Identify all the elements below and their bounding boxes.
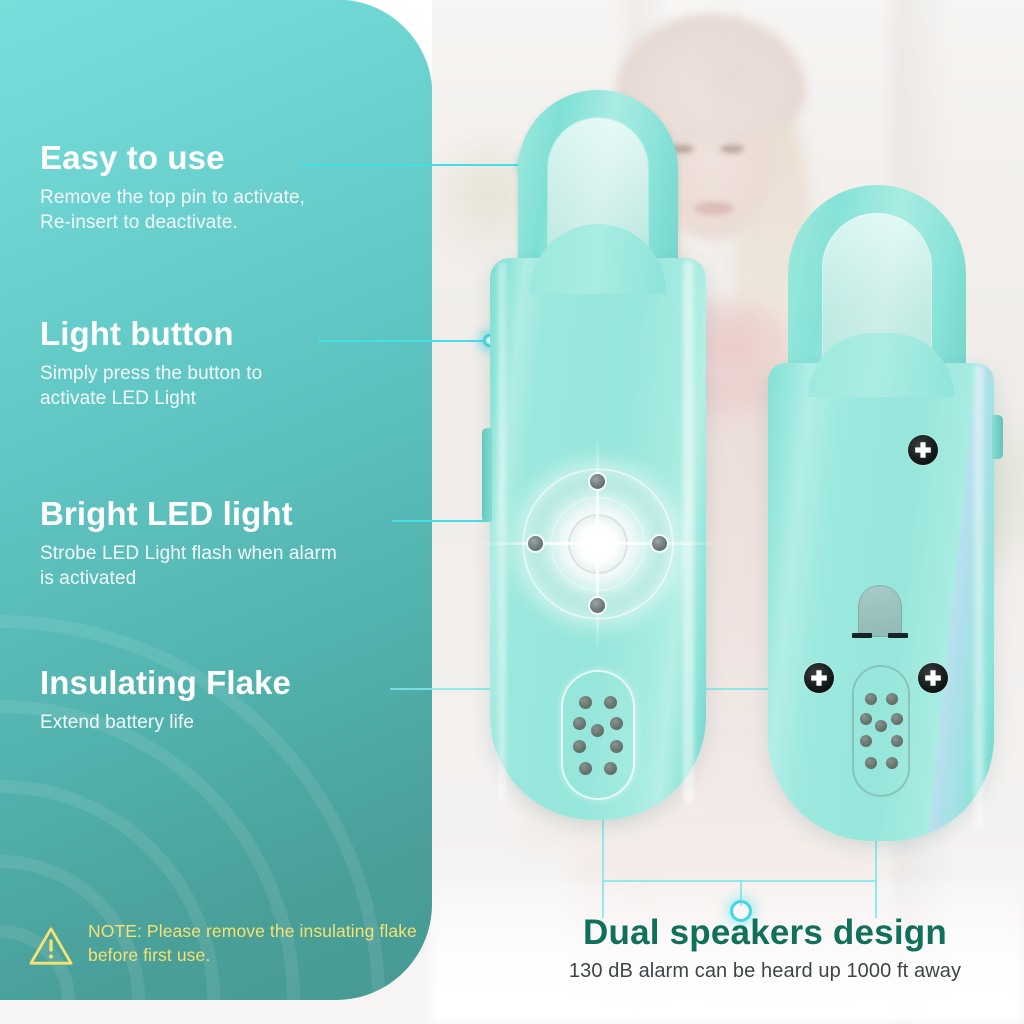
- lens-screw-right: [652, 536, 667, 551]
- feature-title: Light button: [40, 317, 262, 352]
- feature-desc: Remove the top pin to activate, Re-inser…: [40, 185, 305, 235]
- alarm-body-front: [490, 258, 706, 820]
- dual-speakers-caption: Dual speakers design 130 dB alarm can be…: [515, 914, 1015, 983]
- phillips-screw-icon: [809, 668, 829, 688]
- feature-title: Bright LED light: [40, 497, 337, 532]
- alarm-body-back: [768, 363, 994, 841]
- feature-easy-to-use: Easy to use Remove the top pin to activa…: [40, 141, 305, 235]
- body-highlight-left: [498, 262, 506, 802]
- lens-screw-left: [528, 536, 543, 551]
- phillips-screw-icon: [923, 668, 943, 688]
- body-highlight-right: [683, 260, 694, 805]
- personal-alarm-back-view: [760, 185, 1004, 845]
- screw-bottom-left: [804, 663, 834, 693]
- body-highlight-right-back: [974, 365, 984, 829]
- personal-alarm-front-view: [470, 90, 722, 820]
- note-text: NOTE: Please remove the insulating flake…: [88, 920, 428, 967]
- speaker-grille-back: [852, 665, 910, 797]
- feature-desc: Strobe LED Light flash when alarm is act…: [40, 541, 337, 591]
- lens-screw-bottom: [590, 598, 605, 613]
- feature-bright-led-light: Bright LED light Strobe LED Light flash …: [40, 497, 337, 591]
- caption-subtitle: 130 dB alarm can be heard up 1000 ft awa…: [515, 960, 1015, 983]
- screw-top: [908, 435, 938, 465]
- light-button-back[interactable]: [992, 415, 1003, 459]
- led-light-lens[interactable]: [524, 470, 672, 618]
- screw-bottom-right: [918, 663, 948, 693]
- feature-title: Insulating Flake: [40, 666, 291, 701]
- light-button[interactable]: [482, 428, 492, 522]
- feature-desc: Simply press the button to activate LED …: [40, 361, 262, 411]
- insulating-flake-tab[interactable]: [858, 585, 902, 637]
- feature-light-button: Light button Simply press the button to …: [40, 317, 262, 411]
- callout-line-light-button: [318, 340, 492, 342]
- warning-triangle-icon: [28, 925, 74, 967]
- feature-insulating-flake: Insulating Flake Extend battery life: [40, 666, 291, 735]
- feature-desc: Extend battery life: [40, 710, 291, 735]
- lens-screw-top: [590, 474, 605, 489]
- caption-title: Dual speakers design: [515, 914, 1015, 953]
- insulating-flake-edge-left: [852, 633, 872, 638]
- speaker-grille-front: [561, 670, 635, 800]
- phillips-screw-icon: [913, 440, 933, 460]
- led-flare-vertical: [596, 436, 599, 652]
- callout-line-speaker-join: [602, 880, 876, 882]
- feature-title: Easy to use: [40, 141, 305, 176]
- infographic-canvas: Easy to use Remove the top pin to activa…: [0, 0, 1024, 1024]
- insulating-flake-edge-right: [888, 633, 908, 638]
- note-block: NOTE: Please remove the insulating flake…: [28, 920, 428, 967]
